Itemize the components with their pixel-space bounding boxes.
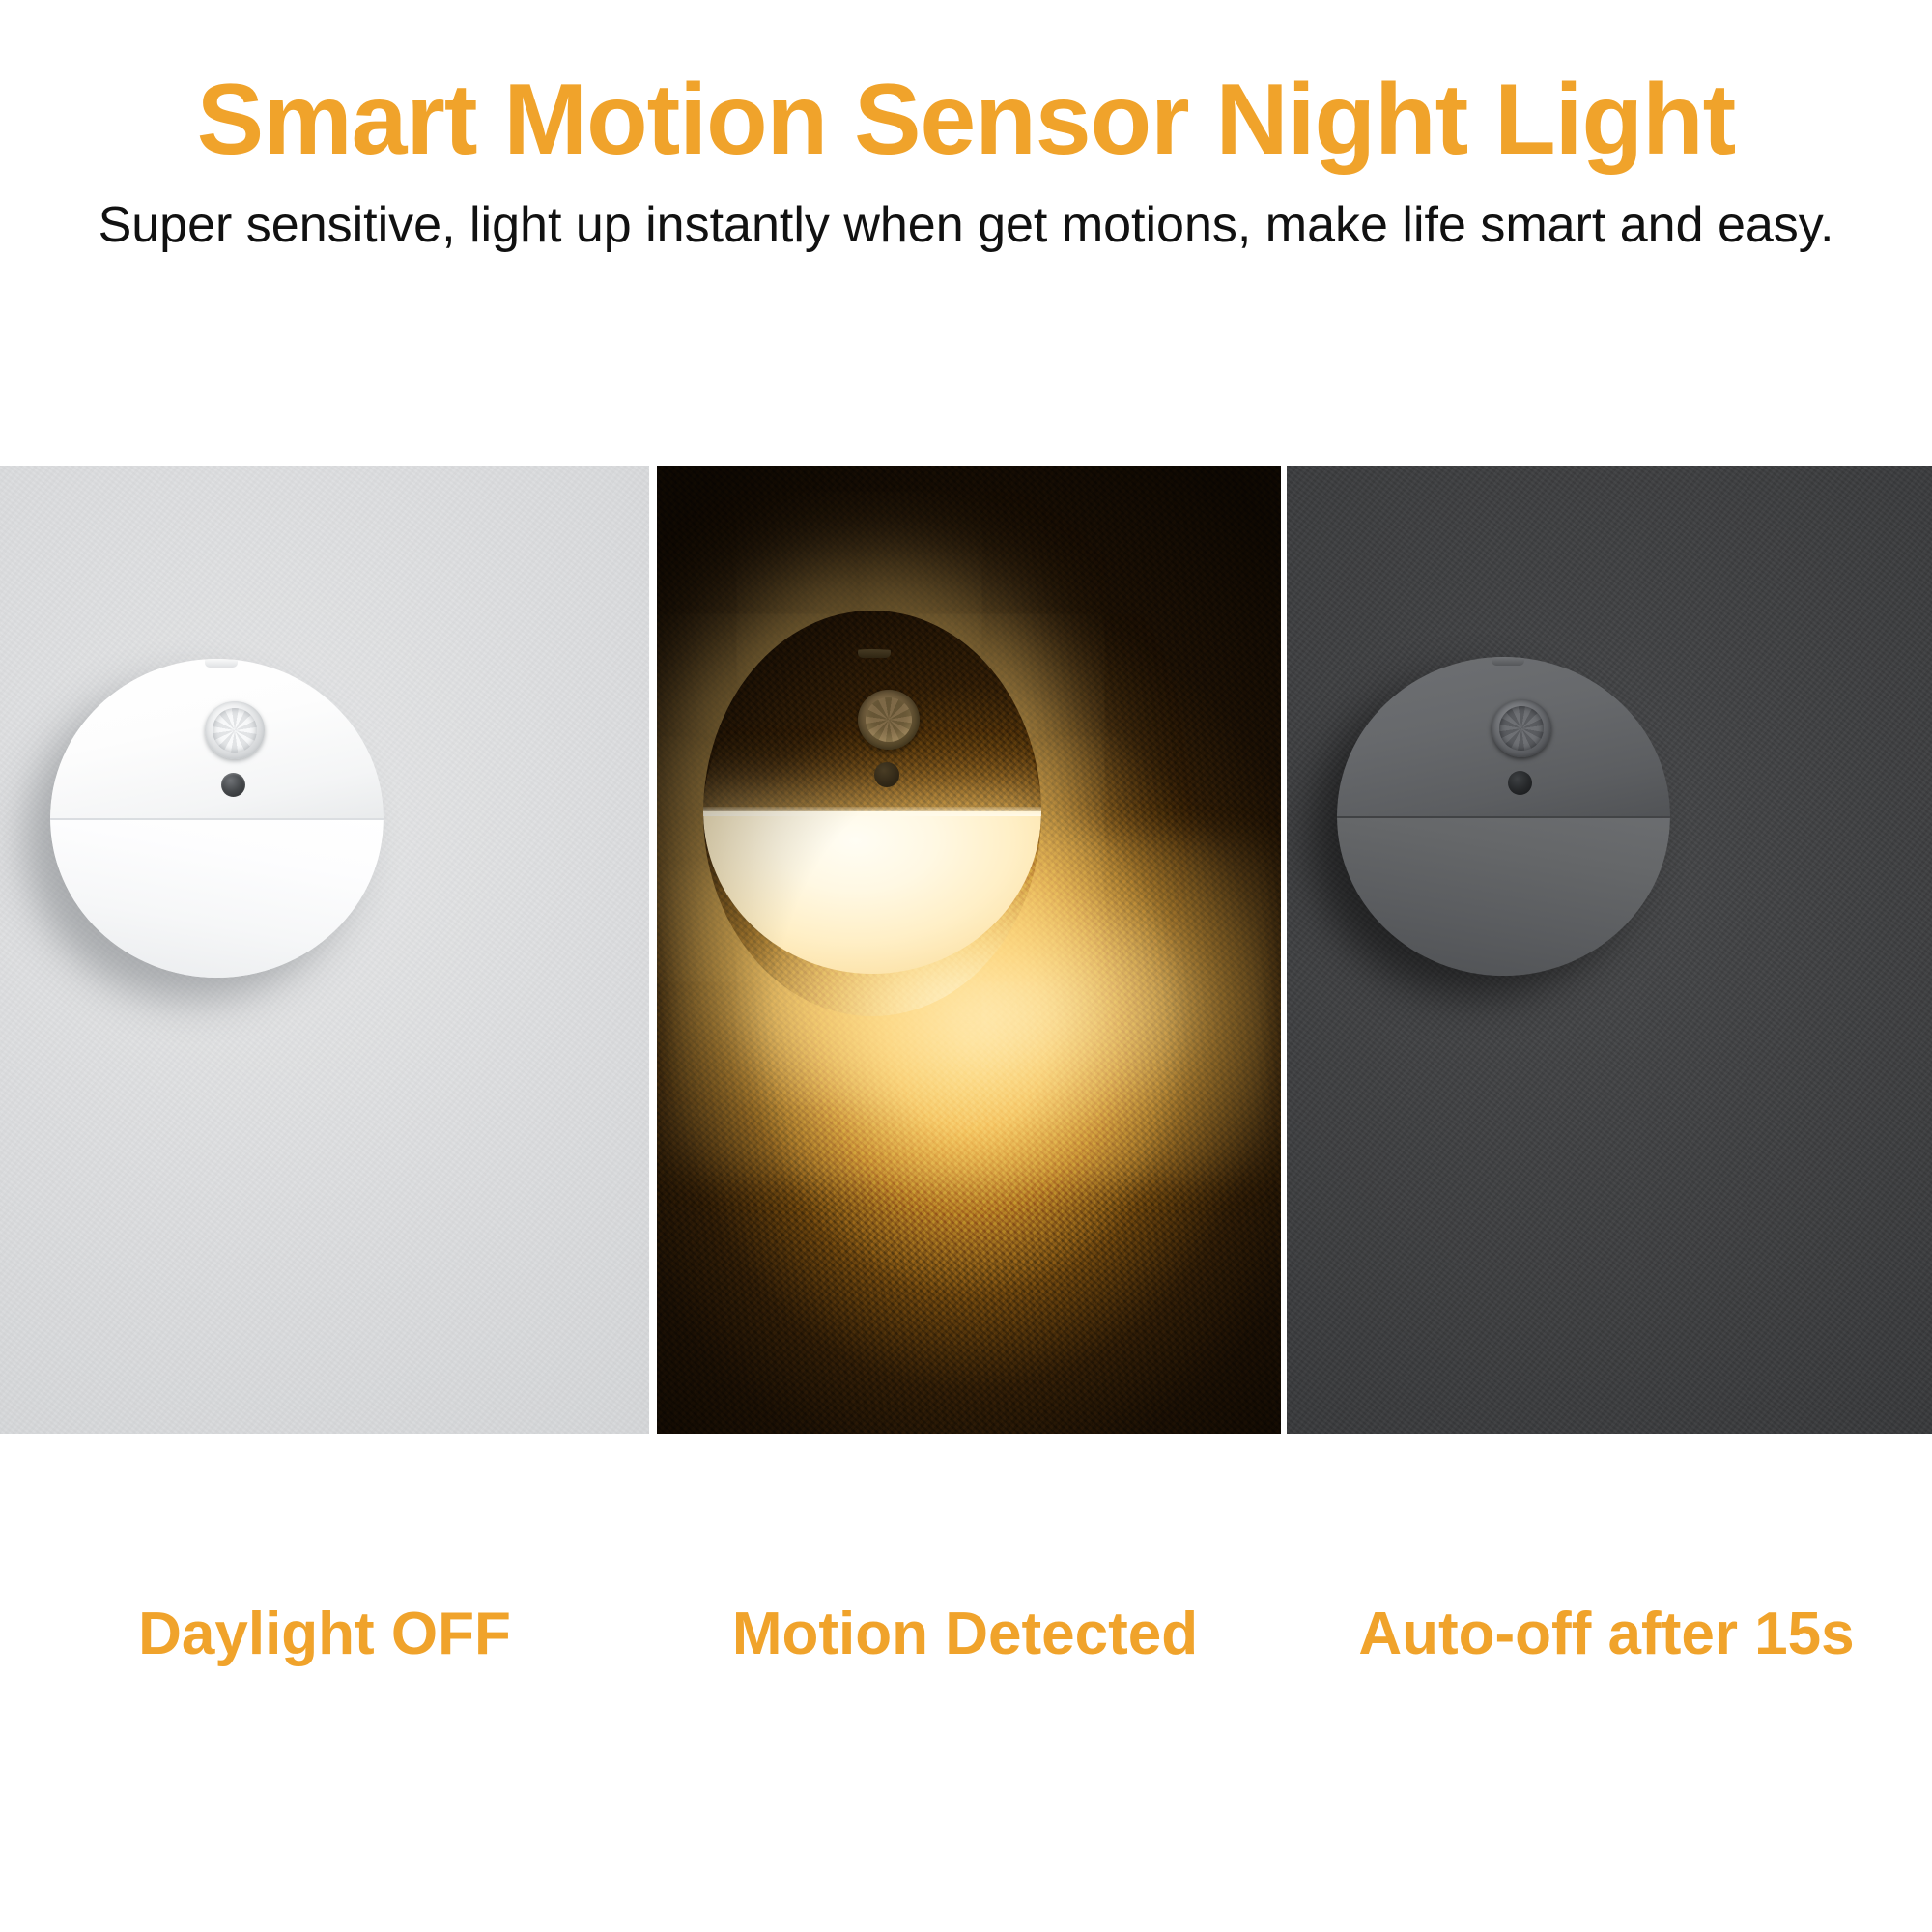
page-title: Smart Motion Sensor Night Light <box>0 68 1932 173</box>
photo-panel-daylight-off <box>0 466 649 1434</box>
device-top-notch <box>205 659 238 668</box>
ambient-light-sensor-icon <box>221 773 245 797</box>
night-light-device <box>50 659 384 978</box>
panel-vignette <box>657 466 1281 1434</box>
pir-fresnel-lens-icon <box>213 708 257 753</box>
panel-caption-row: Daylight OFF Motion Detected Auto-off af… <box>0 1602 1932 1718</box>
product-photo-strip <box>0 466 1932 1434</box>
night-light-device <box>1337 657 1670 976</box>
ambient-light-sensor-icon <box>1508 771 1532 795</box>
photo-panel-motion-detected <box>657 466 1281 1434</box>
page-header: Smart Motion Sensor Night Light Super se… <box>0 0 1932 253</box>
pir-sensor-icon <box>1492 699 1551 757</box>
caption-daylight-off: Daylight OFF <box>0 1602 649 1667</box>
wall-background-light <box>0 466 649 1434</box>
page-subtitle: Super sensitive, light up instantly when… <box>0 198 1932 253</box>
pir-fresnel-lens-icon <box>1499 706 1544 751</box>
pir-sensor-icon <box>205 701 265 759</box>
caption-motion-detected: Motion Detected <box>649 1602 1281 1667</box>
caption-auto-off: Auto-off after 15s <box>1281 1602 1932 1667</box>
wall-background-dark <box>1287 466 1932 1434</box>
device-top-notch <box>1492 657 1524 666</box>
photo-panel-auto-off <box>1287 466 1932 1434</box>
